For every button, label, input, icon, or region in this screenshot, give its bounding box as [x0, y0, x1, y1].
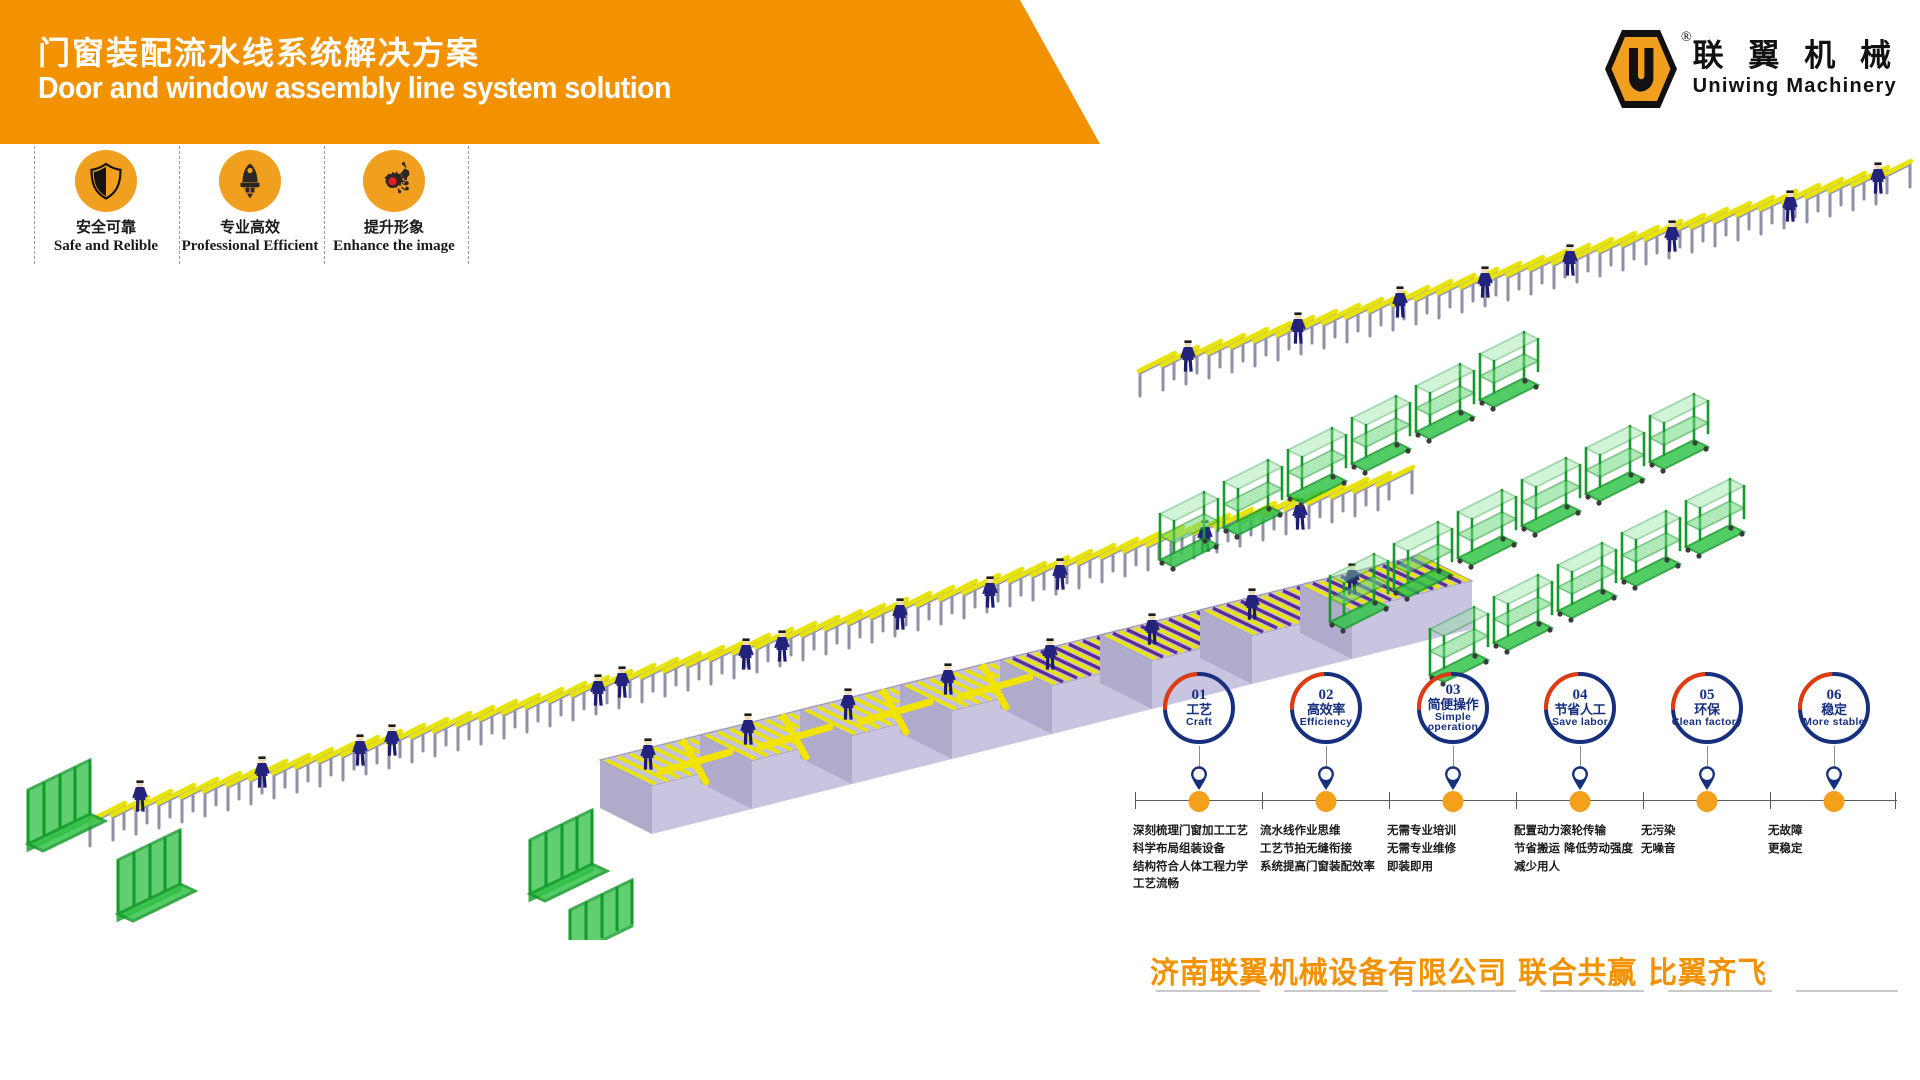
timeline-tick	[1643, 792, 1644, 809]
feature-strip: 安全可靠 Safe and Relible 专业高效 Professional …	[0, 146, 620, 266]
badge-stem	[1707, 746, 1708, 768]
material-cart-left-4	[570, 880, 632, 940]
benefits-timeline: 01 工艺 Craft 深刻梳理门窗加工工艺 科学布局组装设备 结构符合人体工程…	[1135, 672, 1905, 942]
footer-divider	[1156, 990, 1898, 992]
worker-figure	[1180, 340, 1195, 371]
timeline-item-03[interactable]: 03 简便操作 Simple operation 无需专业培训 无需专业维修 即…	[1391, 672, 1515, 744]
feature-label-cn: 专业高效	[220, 216, 280, 237]
benefit-description: 流水线作业思维 工艺节拍无缝衔接 系统提高门窗装配效率	[1260, 822, 1388, 875]
timeline-item-01[interactable]: 01 工艺 Craft 深刻梳理门窗加工工艺 科学布局组装设备 结构符合人体工程…	[1137, 672, 1261, 744]
worker-figure	[384, 724, 399, 755]
badge-stem	[1834, 746, 1835, 768]
benefit-label-en: Save labor	[1552, 717, 1608, 728]
feature-label-en: Safe and Relible	[54, 238, 158, 255]
registered-trademark-icon: ®	[1681, 30, 1692, 46]
benefit-badge: 04 节省人工 Save labor	[1544, 672, 1616, 744]
timeline-marker-dot	[1443, 791, 1464, 812]
timeline-marker-dot	[1189, 791, 1210, 812]
timeline-item-02[interactable]: 02 高效率 Efficiency 流水线作业思维 工艺节拍无缝衔接 系统提高门…	[1264, 672, 1388, 744]
benefit-description: 配置动力滚轮传输 节省搬运 降低劳动强度 减少用人	[1514, 822, 1642, 875]
benefit-label-en: Efficiency	[1300, 717, 1353, 728]
feature-item-image[interactable]: 提升形象 Enhance the image	[314, 150, 474, 255]
shield-icon	[89, 162, 123, 200]
feature-icon-badge	[363, 150, 425, 212]
benefit-number: 06	[1827, 688, 1842, 703]
timeline-marker-dot	[1316, 791, 1337, 812]
benefit-label-cn: 高效率	[1307, 704, 1345, 717]
timeline-tick	[1770, 792, 1771, 809]
benefit-label-cn: 节省人工	[1555, 704, 1606, 717]
feature-label-en: Professional Efficient	[182, 238, 319, 255]
badge-stem	[1453, 746, 1454, 768]
benefit-description: 无需专业培训 无需专业维修 即装即用	[1387, 822, 1515, 875]
timeline-marker-dot	[1824, 791, 1845, 812]
benefit-number: 05	[1700, 688, 1715, 703]
page-title-cn: 门窗装配流水线系统解决方案	[38, 28, 480, 74]
benefit-number: 02	[1319, 688, 1334, 703]
company-slogan: 济南联翼机械设备有限公司 联合共赢 比翼齐飞	[1150, 948, 1880, 992]
benefit-label-en: Craft	[1186, 717, 1212, 728]
badge-stem	[1326, 746, 1327, 768]
logo-wordmark: 联 翼 机 械 Uniwing Machinery	[1693, 40, 1898, 98]
feature-label-cn: 安全可靠	[76, 216, 136, 237]
page-title-en: Door and window assembly line system sol…	[38, 70, 671, 106]
benefit-badge: 03 简便操作 Simple operation	[1417, 672, 1489, 744]
benefit-number: 04	[1573, 688, 1588, 703]
benefit-badge: 01 工艺 Craft	[1163, 672, 1235, 744]
benefit-description: 深刻梳理门窗加工工艺 科学布局组装设备 结构符合人体工程力学 工艺流畅	[1133, 822, 1261, 893]
benefit-number: 01	[1192, 688, 1207, 703]
footer-slogan: 济南联翼机械设备有限公司 联合共赢 比翼齐飞	[1150, 948, 1910, 1008]
gear-network-icon	[375, 162, 413, 200]
logo-name-en: Uniwing Machinery	[1693, 75, 1898, 98]
poster-root: 门窗装配流水线系统解决方案 Door and window assembly l…	[0, 0, 1920, 1080]
material-cart-left-2	[118, 830, 195, 921]
benefit-label-en: Clean factory	[1672, 717, 1742, 728]
benefit-badge: 06 稳定 More stable	[1798, 672, 1870, 744]
feature-label-cn: 提升形象	[364, 216, 424, 237]
timeline-item-06[interactable]: 06 稳定 More stable 无故障 更稳定	[1772, 672, 1896, 744]
benefit-label-en: Simple operation	[1417, 712, 1489, 733]
feature-icon-badge	[75, 150, 137, 212]
timeline-item-05[interactable]: 05 环保 Clean factory 无污染 无噪音	[1645, 672, 1769, 744]
badge-stem	[1580, 746, 1581, 768]
timeline-item-04[interactable]: 04 节省人工 Save labor 配置动力滚轮传输 节省搬运 降低劳动强度 …	[1518, 672, 1642, 744]
worker-figure	[1290, 312, 1305, 343]
feature-item-safe[interactable]: 安全可靠 Safe and Relible	[26, 150, 186, 255]
benefit-number: 03	[1446, 683, 1461, 698]
rocket-icon	[233, 162, 267, 200]
feature-icon-badge	[219, 150, 281, 212]
benefit-description: 无污染 无噪音	[1641, 822, 1769, 858]
timeline-marker-dot	[1697, 791, 1718, 812]
timeline-tick	[1135, 792, 1136, 809]
benefit-label-cn: 简便操作	[1428, 699, 1479, 712]
brand-logo: ® 联 翼 机 械 Uniwing Machinery	[1603, 28, 1898, 110]
material-cart-left-3	[530, 810, 607, 901]
material-cart-left-1	[28, 760, 105, 851]
feature-label-en: Enhance the image	[333, 238, 455, 255]
benefit-label-cn: 环保	[1694, 704, 1719, 717]
benefit-label-cn: 工艺	[1186, 704, 1211, 717]
timeline-tick	[1262, 792, 1263, 809]
benefit-badge: 02 高效率 Efficiency	[1290, 672, 1362, 744]
timeline-marker-dot	[1570, 791, 1591, 812]
benefit-description: 无故障 更稳定	[1768, 822, 1896, 858]
timeline-tick	[1389, 792, 1390, 809]
benefit-label-en: More stable	[1803, 717, 1865, 728]
badge-stem	[1199, 746, 1200, 768]
hexagon-u-logo-icon: ®	[1603, 28, 1679, 110]
timeline-tick	[1516, 792, 1517, 809]
benefit-badge: 05 环保 Clean factory	[1671, 672, 1743, 744]
timeline-tick	[1895, 792, 1896, 809]
feature-item-professional[interactable]: 专业高效 Professional Efficient	[170, 150, 330, 255]
benefit-label-cn: 稳定	[1821, 704, 1846, 717]
logo-name-cn: 联 翼 机 械	[1693, 40, 1898, 73]
